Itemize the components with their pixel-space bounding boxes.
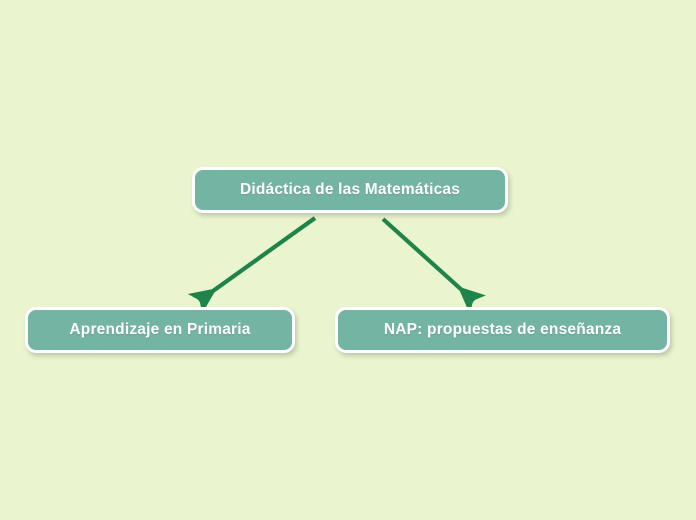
- edge-root-to-right: [383, 219, 474, 301]
- edge-layer: [0, 0, 696, 520]
- node-root-label: Didáctica de las Matemáticas: [240, 181, 460, 198]
- node-left-label: Aprendizaje en Primaria: [69, 321, 250, 338]
- node-right-label: NAP: propuestas de enseñanza: [384, 321, 621, 338]
- node-root[interactable]: Didáctica de las Matemáticas: [192, 167, 508, 213]
- node-aprendizaje-en-primaria[interactable]: Aprendizaje en Primaria: [25, 307, 295, 353]
- edge-root-to-left: [199, 218, 315, 301]
- diagram-canvas: Didáctica de las Matemáticas Aprendizaje…: [0, 0, 696, 520]
- node-nap-propuestas-de-ensenanza[interactable]: NAP: propuestas de enseñanza: [335, 307, 670, 353]
